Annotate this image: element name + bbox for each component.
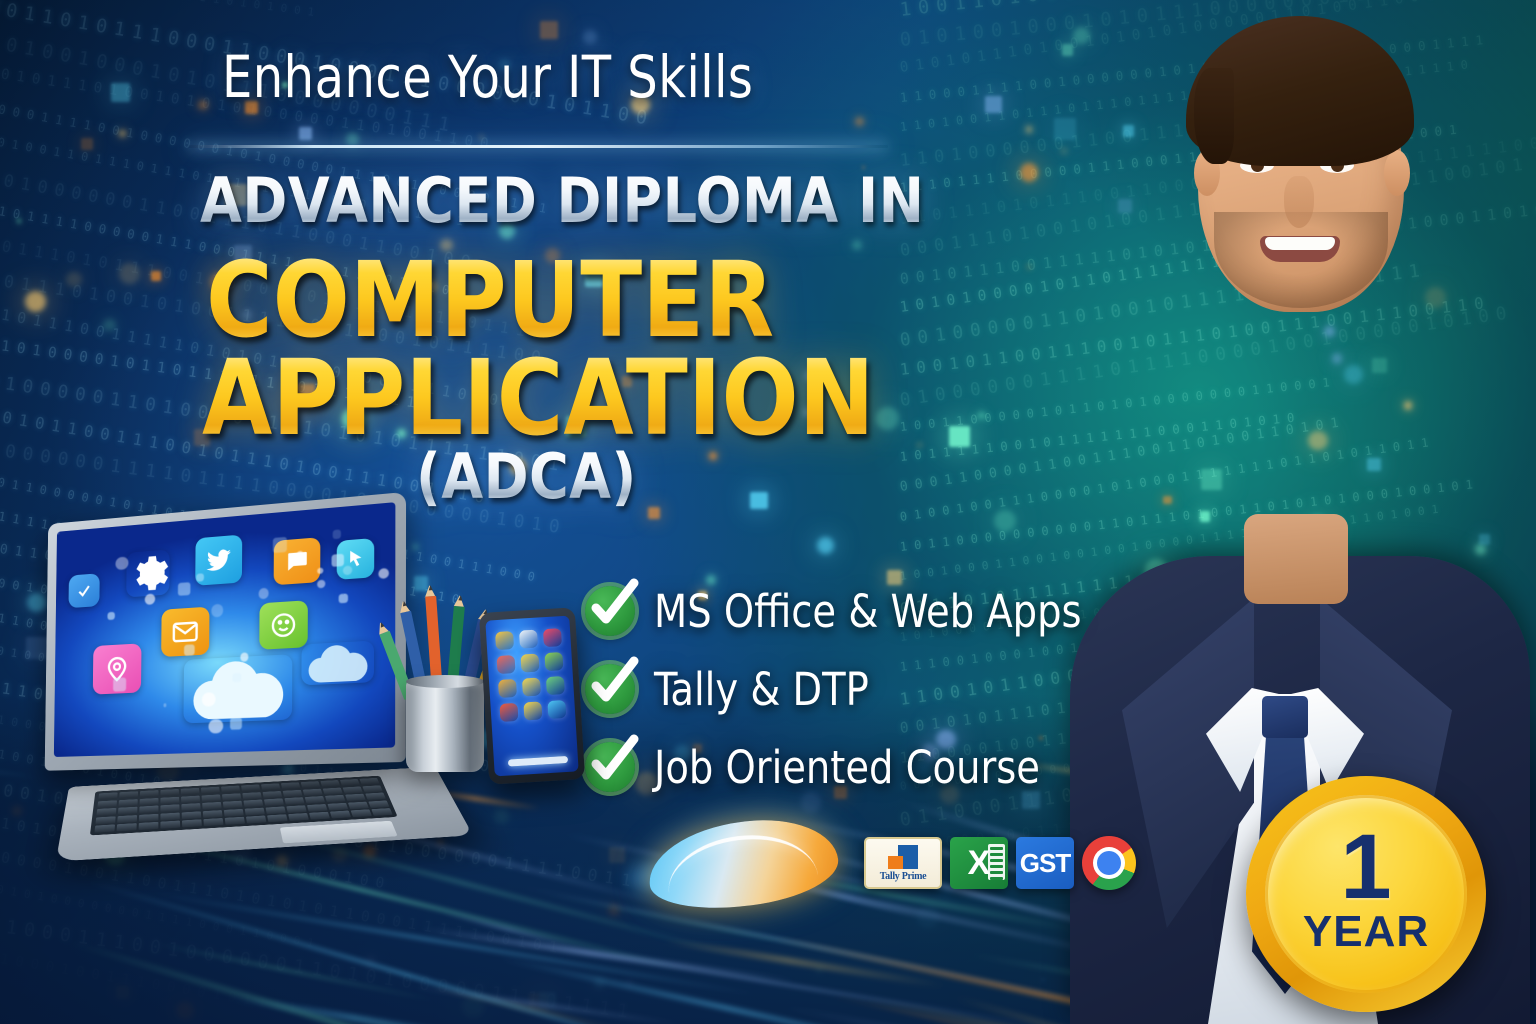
keyboard-key <box>363 785 383 792</box>
keyboard-key <box>202 794 221 801</box>
keyboard-key <box>161 812 180 820</box>
phone-app-icon <box>496 655 515 674</box>
screen-sparkle <box>145 594 155 606</box>
title-line-application: APPLICATION <box>202 346 875 450</box>
title-line-adca: (ADCA) <box>416 446 637 508</box>
screen-sparkle <box>233 673 242 682</box>
screen-sparkle <box>184 644 195 656</box>
keyboard-key <box>301 781 320 788</box>
headline-divider <box>188 145 888 148</box>
smartphone-illustration <box>479 607 585 785</box>
keyboard-key <box>283 790 302 797</box>
keyboard-key <box>139 822 158 830</box>
keyboard-key <box>140 798 159 806</box>
title-line-advanced-diploma-in: ADVANCED DIPLOMA IN <box>200 170 924 232</box>
cloud-small-icon <box>301 640 374 685</box>
phone-app-icon <box>495 631 514 650</box>
keyboard-key <box>246 816 266 824</box>
laptop-illustration <box>18 508 448 908</box>
screen-sparkle <box>57 532 60 535</box>
phone-app-icon <box>546 676 565 695</box>
screen-sparkle <box>272 537 287 553</box>
keyboard-key <box>182 819 201 827</box>
keyboard-key <box>224 809 243 817</box>
keyboard-key <box>94 824 114 832</box>
ear-right <box>1384 150 1410 196</box>
keyboard-key <box>348 801 368 809</box>
feature-label: Tally & DTP <box>654 663 869 716</box>
page-headline: Enhance Your IT Skills <box>222 48 753 106</box>
screen-sparkle <box>317 579 326 588</box>
keyboard-key <box>245 807 265 815</box>
screen-sparkle <box>113 677 126 691</box>
keyboard-key <box>266 806 286 814</box>
screen-sparkle <box>259 588 269 599</box>
keyboard-key <box>305 796 325 803</box>
keyboard-key <box>372 808 393 816</box>
keyboard-key <box>201 787 219 794</box>
keyboard-key <box>181 788 199 795</box>
keyboard-key <box>307 804 327 812</box>
chrome-logo <box>1082 836 1136 890</box>
checkmark-glyph <box>584 734 642 792</box>
keyboard-key <box>202 802 221 810</box>
feature-label: Job Oriented Course <box>654 741 1040 794</box>
keyboard-key <box>369 800 390 808</box>
keyboard-key <box>161 789 179 796</box>
tally-mark-icon <box>888 845 918 869</box>
keyboard-key <box>95 816 115 824</box>
tally-prime-label: Tally Prime <box>880 871 927 882</box>
screen-sparkle <box>230 717 242 729</box>
keyboard-key <box>181 803 200 811</box>
adca-course-banner: 0100000110111110111010100110011010111000… <box>0 0 1536 1024</box>
neck <box>1244 514 1348 604</box>
keyboard-key <box>281 782 300 789</box>
gst-label: GST <box>1020 848 1070 879</box>
keyboard-key <box>140 790 158 797</box>
screen-sparkle <box>332 529 341 538</box>
keyboard-key <box>117 823 137 831</box>
phone-app-icon <box>547 700 566 719</box>
keyboard-key <box>225 817 245 825</box>
keyboard-key <box>330 811 351 819</box>
badge-unit: YEAR <box>1303 910 1429 954</box>
keyboard-key <box>261 783 280 790</box>
phone-app-icon <box>520 654 539 673</box>
list-item: MS Office & Web Apps <box>582 572 1104 650</box>
cloud-icon <box>184 654 293 723</box>
nose <box>1284 176 1314 228</box>
keyboard-key <box>285 797 305 804</box>
keyboard-key <box>139 814 158 822</box>
keyboard-key <box>323 787 343 794</box>
phone-home-indicator <box>508 756 568 767</box>
phone-screen <box>485 616 578 777</box>
metal-cup <box>406 680 484 772</box>
smiley-icon <box>259 601 308 651</box>
checkmark-glyph <box>584 578 642 636</box>
keyboard-key <box>204 818 224 826</box>
keyboard-key <box>303 788 323 795</box>
list-item: Tally & DTP <box>582 650 1104 728</box>
keyboard-key <box>97 800 116 808</box>
keyboard-key <box>309 812 330 820</box>
keyboard-key <box>221 786 240 793</box>
keyboard-key <box>264 798 284 806</box>
tie-knot <box>1262 696 1308 738</box>
screen-sparkle <box>196 573 204 582</box>
screen-sparkle <box>211 604 223 617</box>
check-circle-icon <box>582 582 640 640</box>
keyboard-key <box>366 793 386 800</box>
duration-badge: 1 YEAR <box>1246 776 1486 1012</box>
keyboard-key <box>203 810 222 818</box>
check-circle-icon <box>582 738 640 796</box>
software-logo-strip: Tally Prime X GST <box>864 836 1136 890</box>
phone-app-icon <box>544 652 563 671</box>
keyboard-key <box>340 779 360 786</box>
keyboard-key <box>161 804 180 812</box>
screen-sparkle <box>202 692 215 706</box>
smiling-mouth <box>1260 236 1340 262</box>
phone-app-icon <box>523 701 542 720</box>
keyboard-key <box>263 791 282 798</box>
checkmark-glyph <box>584 656 642 714</box>
feature-label: MS Office & Web Apps <box>654 585 1082 638</box>
keyboard-key <box>119 799 138 807</box>
keyboard-key <box>360 778 380 785</box>
keyboard-key <box>244 800 263 808</box>
excel-sheet-icon <box>988 844 1005 880</box>
excel-x-label: X <box>968 846 991 880</box>
keyboard-key <box>346 794 366 801</box>
computer-mouse-illustration <box>648 808 846 928</box>
keyboard-key <box>287 805 307 813</box>
phone-app-icon <box>498 679 517 698</box>
screen-sparkle <box>209 719 223 734</box>
teeth <box>1265 237 1335 250</box>
laptop-lid <box>45 492 406 771</box>
screen-sparkle <box>378 568 389 579</box>
keyboard-key <box>118 807 137 815</box>
laptop-trackpad <box>280 821 398 844</box>
keyboard-key <box>161 821 180 829</box>
keyboard-key <box>267 814 287 822</box>
phone-app-icon <box>499 703 518 722</box>
keyboard-key <box>222 793 241 800</box>
keyboard-key <box>325 795 345 802</box>
keyboard-key <box>96 808 115 816</box>
feature-list: MS Office & Web Apps Tally & DTP Job Ori… <box>582 572 1104 806</box>
screen-sparkle <box>177 582 190 596</box>
laptop-base <box>56 767 473 862</box>
phone-app-icon <box>519 630 538 649</box>
phone-app-icon <box>543 628 562 647</box>
keyboard-key <box>241 784 260 791</box>
badge-inner-disc: 1 YEAR <box>1265 795 1467 993</box>
keyboard-key <box>321 780 340 787</box>
keyboard-key <box>288 813 308 821</box>
excel-logo: X <box>950 837 1008 889</box>
list-item: Job Oriented Course <box>582 728 1104 806</box>
gear-icon <box>126 550 170 598</box>
keyboard-key <box>98 792 117 799</box>
keyboard-key <box>182 811 201 819</box>
keyboard-key <box>117 815 136 823</box>
keyboard-key <box>328 803 348 811</box>
keyboard-key <box>181 795 200 802</box>
keyboard-key <box>139 806 158 814</box>
laptop-screen <box>54 502 396 757</box>
hair <box>1186 16 1414 166</box>
screen-sparkle <box>338 593 348 603</box>
keyboard-key <box>223 801 242 809</box>
check-mini-icon <box>68 573 99 608</box>
gst-logo: GST <box>1016 837 1074 889</box>
keyboard-key <box>242 792 261 799</box>
screen-sparkle <box>331 553 344 567</box>
screen-sparkle <box>317 567 323 574</box>
screen-sparkle <box>108 611 116 619</box>
badge-number: 1 <box>1340 828 1391 907</box>
phone-app-icon <box>522 677 541 696</box>
keyboard-key <box>351 809 372 817</box>
screen-sparkle <box>163 704 166 707</box>
keyboard-key <box>343 786 363 793</box>
keyboard-key <box>161 797 179 804</box>
check-circle-icon <box>582 660 640 718</box>
keyboard-key <box>119 791 138 798</box>
phone-app-grid <box>495 628 566 722</box>
tally-prime-logo: Tally Prime <box>864 837 942 889</box>
